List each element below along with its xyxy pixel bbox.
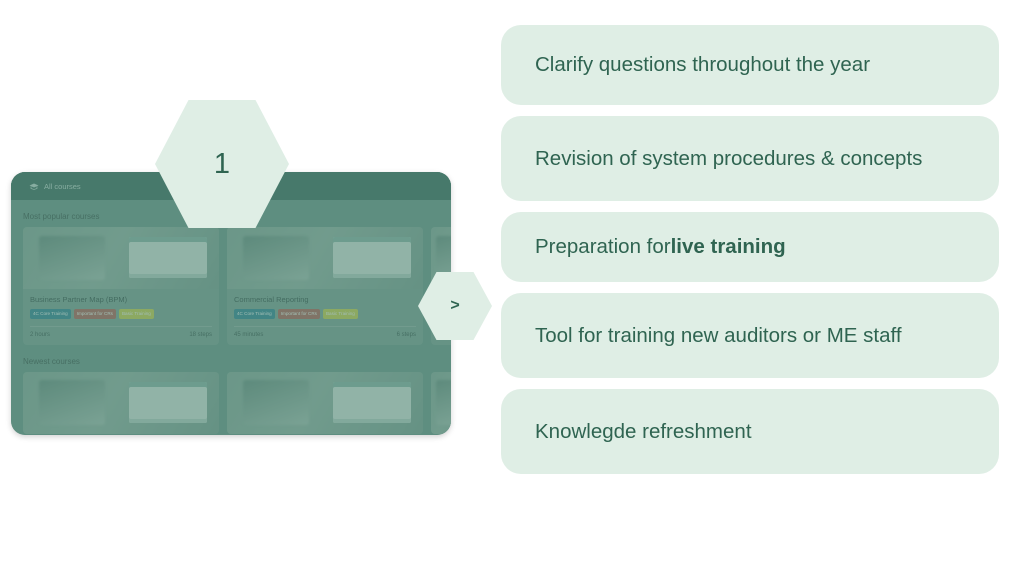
slide-canvas: All courses Most popular courses Busines… bbox=[0, 0, 1024, 576]
course-duration: 45 minutes bbox=[234, 332, 263, 338]
tab-all-courses[interactable]: All courses bbox=[29, 172, 81, 200]
course-card[interactable]: Business Partner Map (BPM) 4C Core Train… bbox=[23, 227, 219, 345]
benefit-item: Knowlegde refreshment bbox=[501, 389, 999, 474]
thumbnail-chart-icon bbox=[349, 251, 400, 263]
course-thumbnail bbox=[431, 372, 451, 434]
course-tag: 4C Core Training bbox=[30, 309, 71, 319]
course-tags: 4C Core Training Important for CRs Basic… bbox=[30, 309, 212, 319]
course-row-newest bbox=[11, 372, 451, 434]
course-meta: Business Partner Map (BPM) 4C Core Train… bbox=[23, 289, 219, 345]
course-tags: 4C Core Training Important for CRs Basic… bbox=[234, 309, 416, 319]
course-tag: Basic Training bbox=[323, 309, 358, 319]
course-footer: 45 minutes 6 steps bbox=[234, 326, 416, 338]
course-tag: Important for CRs bbox=[278, 309, 320, 319]
benefit-text: Tool for training new auditors or ME sta… bbox=[535, 321, 902, 350]
course-row-popular: Business Partner Map (BPM) 4C Core Train… bbox=[11, 227, 451, 345]
course-meta: Commercial Reporting 4C Core Training Im… bbox=[227, 289, 423, 345]
thumbnail-chart-icon bbox=[145, 395, 196, 407]
benefit-item: Preparation for live training bbox=[501, 212, 999, 282]
course-duration: 2 hours bbox=[30, 332, 50, 338]
benefit-item: Tool for training new auditors or ME sta… bbox=[501, 293, 999, 378]
section-label-newest: Newest courses bbox=[23, 357, 451, 366]
tab-all-courses-label: All courses bbox=[44, 182, 81, 191]
thumbnail-chart-icon bbox=[349, 395, 400, 407]
screenshot-body: Most popular courses Business Partner Ma… bbox=[11, 200, 451, 435]
course-card[interactable] bbox=[227, 372, 423, 434]
course-title: Business Partner Map (BPM) bbox=[30, 295, 212, 304]
benefit-item: Revision of system procedures & concepts bbox=[501, 116, 999, 201]
course-thumbnail bbox=[227, 372, 423, 434]
benefit-item: Clarify questions throughout the year bbox=[501, 25, 999, 105]
course-tag: 4C Core Training bbox=[234, 309, 275, 319]
benefit-text: Clarify questions throughout the year bbox=[535, 50, 870, 79]
benefit-text: Revision of system procedures & concepts bbox=[535, 144, 922, 173]
benefit-text: Preparation for bbox=[535, 232, 671, 261]
course-card[interactable] bbox=[23, 372, 219, 434]
course-thumbnail bbox=[23, 372, 219, 434]
course-tag: Important for CRs bbox=[74, 309, 116, 319]
course-card-partial[interactable] bbox=[431, 372, 451, 434]
course-thumbnail bbox=[227, 227, 423, 289]
course-steps: 18 steps bbox=[189, 332, 212, 338]
benefit-text-bold: live training bbox=[671, 232, 786, 261]
course-footer: 2 hours 18 steps bbox=[30, 326, 212, 338]
benefit-text: Knowlegde refreshment bbox=[535, 417, 752, 446]
benefit-list: Clarify questions throughout the year Re… bbox=[501, 25, 999, 474]
course-thumbnail bbox=[23, 227, 219, 289]
step-number-label: 1 bbox=[214, 148, 230, 181]
course-card[interactable]: Commercial Reporting 4C Core Training Im… bbox=[227, 227, 423, 345]
course-steps: 6 steps bbox=[397, 332, 416, 338]
graduation-cap-icon bbox=[29, 183, 39, 190]
course-tag: Basic Training bbox=[119, 309, 154, 319]
chevron-right-icon: > bbox=[450, 297, 459, 315]
thumbnail-chart-icon bbox=[145, 251, 196, 263]
course-title: Commercial Reporting bbox=[234, 295, 416, 304]
